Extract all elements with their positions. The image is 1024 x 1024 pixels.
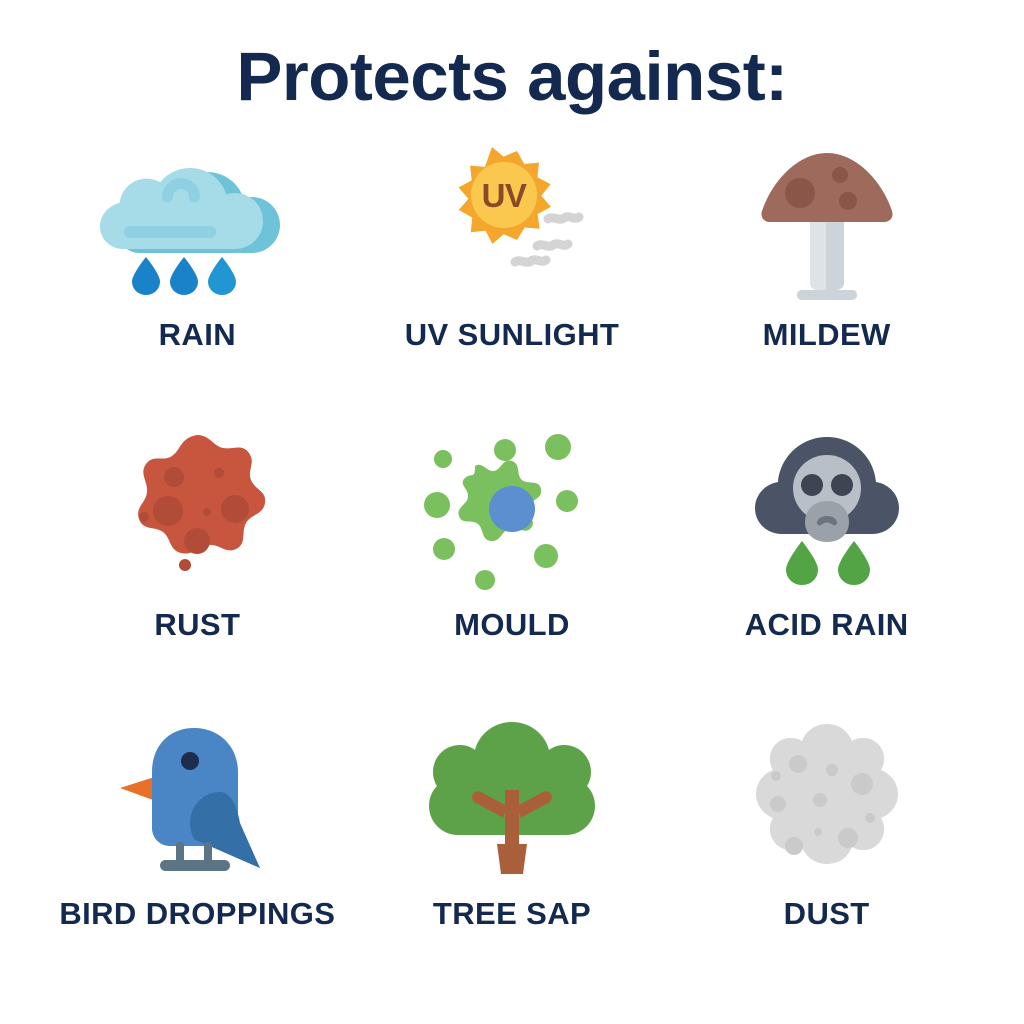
grid-item-label: MILDEW [763, 317, 891, 353]
grid-item-bird-droppings[interactable]: BIRD DROPPINGS [40, 708, 355, 998]
uv-sun-icon: UV [417, 135, 607, 303]
dust-cloud-icon [732, 714, 922, 882]
grid-item-acid-rain[interactable]: ACID RAIN [669, 419, 984, 709]
page-title: Protects against: [0, 0, 1024, 111]
grid-item-label: DUST [784, 896, 870, 932]
mould-spore-icon [417, 425, 607, 593]
grid-item-tree-sap[interactable]: TREE SAP [355, 708, 670, 998]
grid-item-dust[interactable]: DUST [669, 708, 984, 998]
grid-item-label: RAIN [159, 317, 236, 353]
grid-item-label: BIRD DROPPINGS [59, 896, 335, 932]
mushroom-icon [732, 135, 922, 303]
grid-item-label: RUST [154, 607, 240, 643]
rust-blob-icon [102, 425, 292, 593]
infographic-poster: Protects against: RAIN [0, 0, 1024, 1024]
bird-icon [102, 714, 292, 882]
acid-rain-skull-cloud-icon [732, 425, 922, 593]
grid-item-mould[interactable]: MOULD [355, 419, 670, 709]
grid-item-rain[interactable]: RAIN [40, 129, 355, 419]
rain-cloud-icon [102, 135, 292, 303]
grid-item-uv-sunlight[interactable]: UV UV SUNLIGHT [355, 129, 670, 419]
grid-item-label: UV SUNLIGHT [405, 317, 620, 353]
grid-item-mildew[interactable]: MILDEW [669, 129, 984, 419]
grid-item-label: TREE SAP [433, 896, 591, 932]
tree-icon [417, 714, 607, 882]
grid-item-label: MOULD [454, 607, 570, 643]
protection-grid: RAIN UV UV SUNLIGHT [0, 111, 1024, 1024]
grid-item-rust[interactable]: RUST [40, 419, 355, 709]
grid-item-label: ACID RAIN [745, 607, 909, 643]
uv-badge-text: UV [482, 177, 527, 214]
